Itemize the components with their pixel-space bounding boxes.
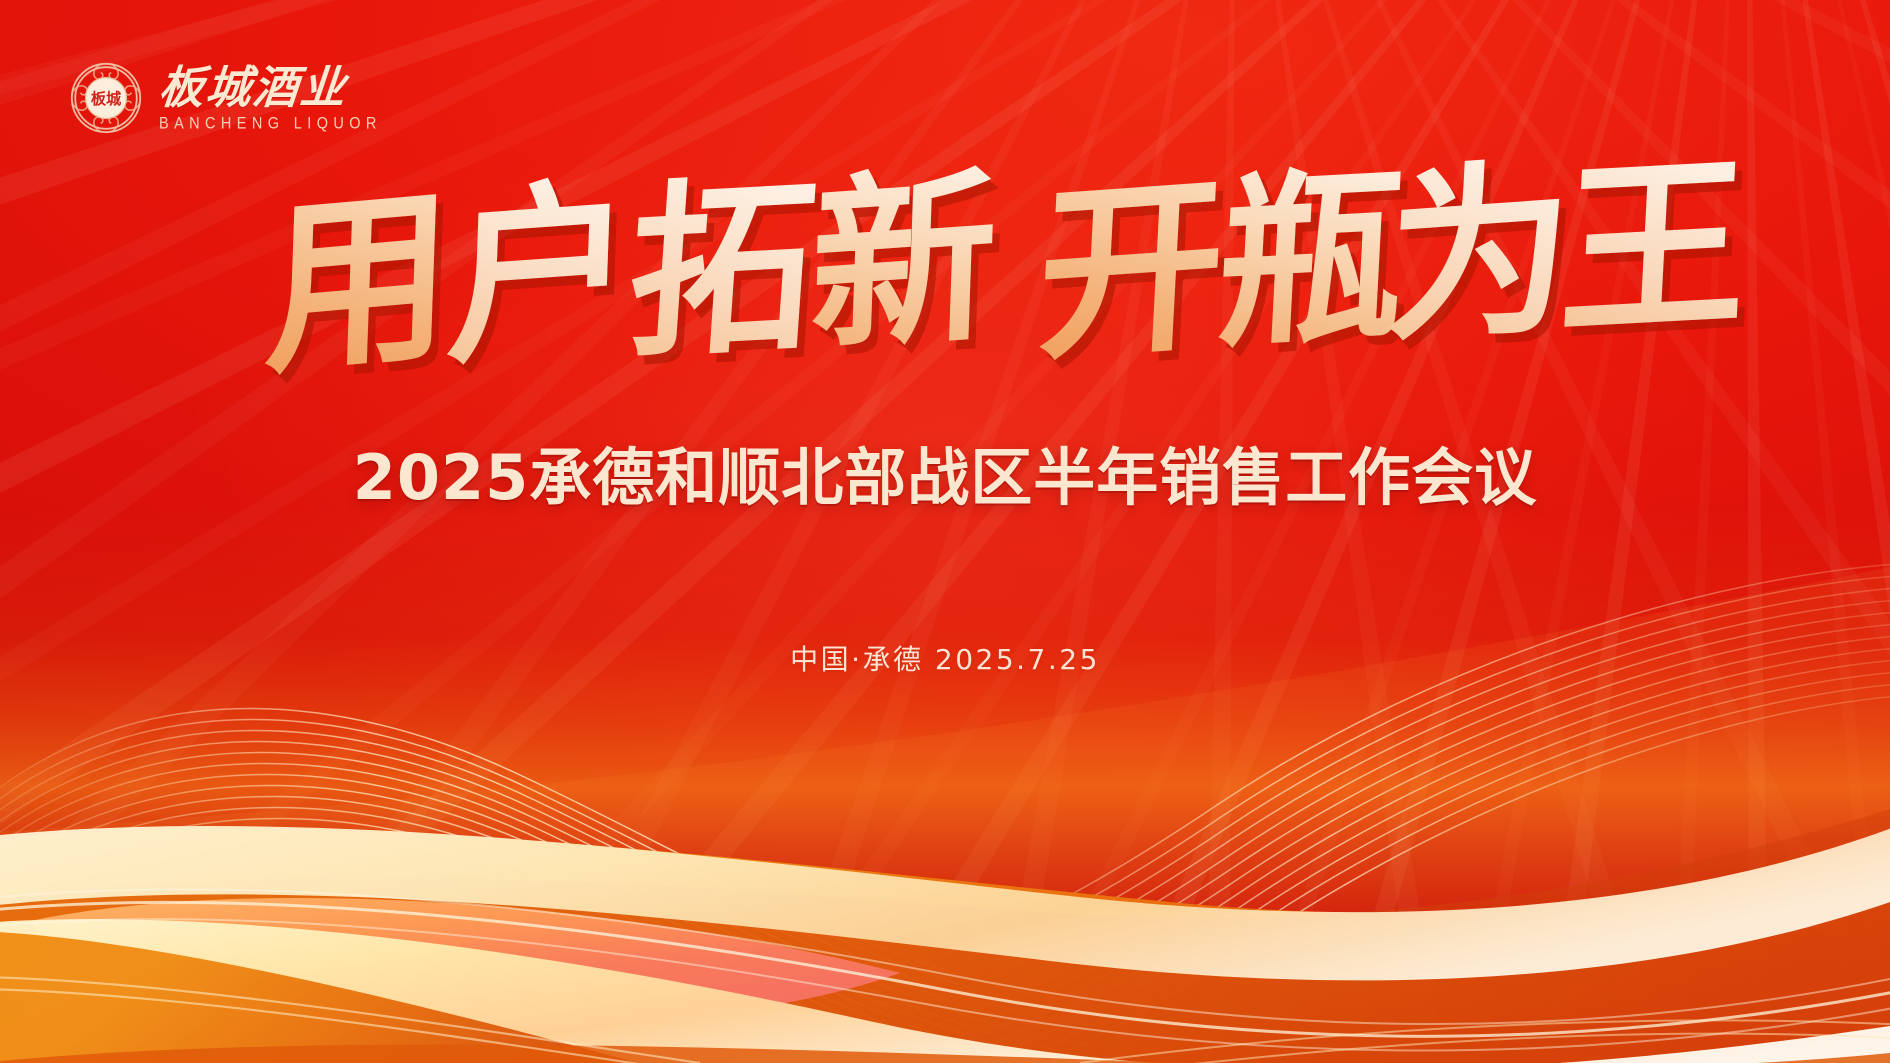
poster-canvas: 板城 板城酒业 BANCHENG LIQUOR — [0, 0, 1890, 1063]
brand-wordmark: 板城酒业 BANCHENG LIQUOR — [159, 65, 382, 132]
brand-name-cn: 板城酒业 — [157, 65, 384, 110]
headline-calligraphy: 用 户 拓 新 开 瓶 为 王 — [0, 178, 1890, 408]
headline-char-7: 为 — [1381, 138, 1578, 370]
headline-char-4: 新 — [807, 145, 1000, 377]
headline-char-2: 户 — [444, 157, 637, 389]
headline-char-6: 瓶 — [1212, 145, 1409, 374]
headline-char-8: 王 — [1556, 133, 1753, 362]
conference-subtitle: 2025承德和顺北部战区半年销售工作会议 — [0, 427, 1890, 517]
headline-svg: 用 户 拓 新 开 瓶 为 王 — [285, 178, 1605, 408]
location-date-line: 中国·承德 2025.7.25 — [0, 638, 1890, 678]
circular-seal-icon: 板城 — [68, 60, 144, 136]
headline-char-3: 拓 — [622, 156, 823, 385]
brand-logo[interactable]: 板城 板城酒业 BANCHENG LIQUOR — [68, 60, 382, 136]
headline-char-1: 用 — [262, 165, 455, 401]
seal-characters: 板城 — [91, 90, 122, 108]
brand-name-en: BANCHENG LIQUOR — [159, 116, 382, 132]
headline-char-5: 开 — [1033, 154, 1230, 386]
